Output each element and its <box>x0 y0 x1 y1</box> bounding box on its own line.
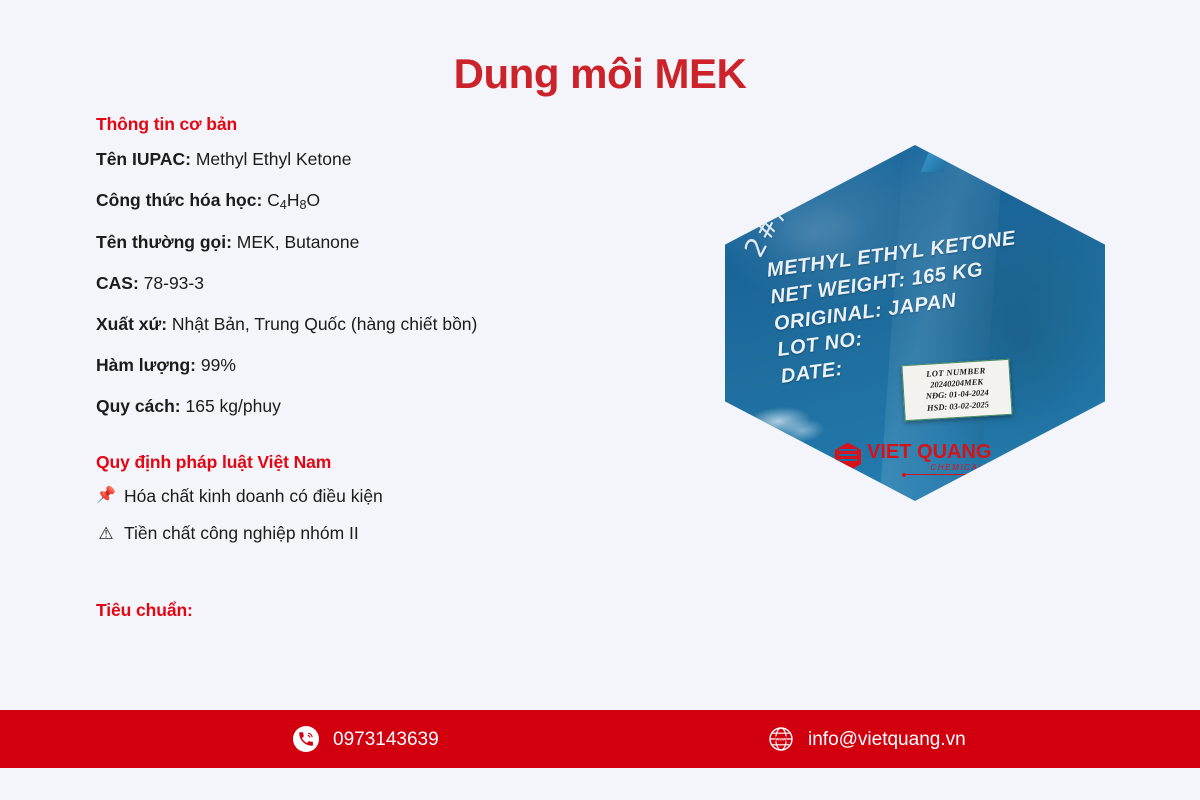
logo-text-wrap: VIET QUANG CHEMICALS <box>867 442 991 472</box>
info-value-formula: C4H8O <box>267 190 320 210</box>
product-image: 2#/S METHYL ETHYL KETONE NET WEIGHT: 165… <box>725 145 1105 501</box>
logo-underline <box>905 474 991 475</box>
viet-quang-logo: VIET QUANG CHEMICALS <box>835 442 991 472</box>
info-value: 165 kg/phuy <box>186 396 281 416</box>
info-row: CAS: 78-93-3 <box>96 273 676 295</box>
page-title: Dung môi MEK <box>0 50 1200 98</box>
info-row: Xuất xứ: Nhật Bản, Trung Quốc (hàng chiế… <box>96 314 676 336</box>
pushpin-icon: 📌 <box>96 485 116 507</box>
warning-triangle-icon: ⚠ <box>96 522 116 546</box>
legal-section: Quy định pháp luật Việt Nam 📌 Hóa chất k… <box>96 452 676 560</box>
phone-call-icon <box>293 726 319 752</box>
info-row: Công thức hóa học: C4H8O <box>96 190 676 214</box>
info-label: Quy cách <box>96 396 175 416</box>
info-label: Tên thường gọi <box>96 232 226 252</box>
logo-brand-name: VIET QUANG <box>867 442 991 462</box>
info-value: Methyl Ethyl Ketone <box>196 149 352 169</box>
footer-email-text: info@vietquang.vn <box>808 730 966 749</box>
info-value: 78-93-3 <box>144 273 204 293</box>
info-value: MEK, Butanone <box>237 232 360 252</box>
lot-number-sticker: LOT NUMBER 20240204MEK NĐG: 01-04-2024 H… <box>901 359 1012 421</box>
footer-contact-bar: 0973143639 www info@vietquang.vn <box>0 710 1200 768</box>
info-row: Quy cách: 165 kg/phuy <box>96 396 676 418</box>
legal-item-text: Tiền chất công nghiệp nhóm II <box>124 522 359 545</box>
logo-bar <box>839 449 857 452</box>
basic-info-heading: Thông tin cơ bản <box>96 114 676 135</box>
info-value: Nhật Bản, Trung Quốc (hàng chiết bồn) <box>172 314 477 334</box>
legal-item-text: Hóa chất kinh doanh có điều kiện <box>124 485 383 508</box>
footer-phone[interactable]: 0973143639 <box>293 726 439 752</box>
footer-phone-text: 0973143639 <box>333 730 439 749</box>
info-row: Hàm lượng: 99% <box>96 355 676 377</box>
info-label: Công thức hóa học <box>96 190 256 210</box>
footer-email[interactable]: www info@vietquang.vn <box>768 726 966 752</box>
info-label: Hàm lượng <box>96 355 190 375</box>
globe-www-icon: www <box>768 726 794 752</box>
drum-scuff-mark <box>746 401 826 448</box>
info-row: Tên thường gọi: MEK, Butanone <box>96 232 676 254</box>
legal-heading: Quy định pháp luật Việt Nam <box>96 452 676 473</box>
svg-text:www: www <box>775 736 787 741</box>
list-item: 📌 Hóa chất kinh doanh có điều kiện <box>96 485 676 508</box>
info-label: CAS <box>96 273 133 293</box>
logo-brand-subtitle: CHEMICALS <box>867 463 991 472</box>
info-row: Tên IUPAC: Methyl Ethyl Ketone <box>96 149 676 171</box>
info-value: 99% <box>201 355 236 375</box>
hexagon-logo-icon <box>835 443 861 472</box>
basic-info-section: Thông tin cơ bản Tên IUPAC: Methyl Ethyl… <box>96 114 676 437</box>
drum-top-surface: 2#/S METHYL ETHYL KETONE NET WEIGHT: 165… <box>725 145 1105 501</box>
infographic-page: Dung môi MEK Thông tin cơ bản Tên IUPAC:… <box>0 0 1200 800</box>
standard-heading: Tiêu chuẩn: <box>96 600 193 621</box>
info-label: Xuất xứ <box>96 314 161 334</box>
info-label: Tên IUPAC <box>96 149 185 169</box>
list-item: ⚠ Tiền chất công nghiệp nhóm II <box>96 522 676 546</box>
